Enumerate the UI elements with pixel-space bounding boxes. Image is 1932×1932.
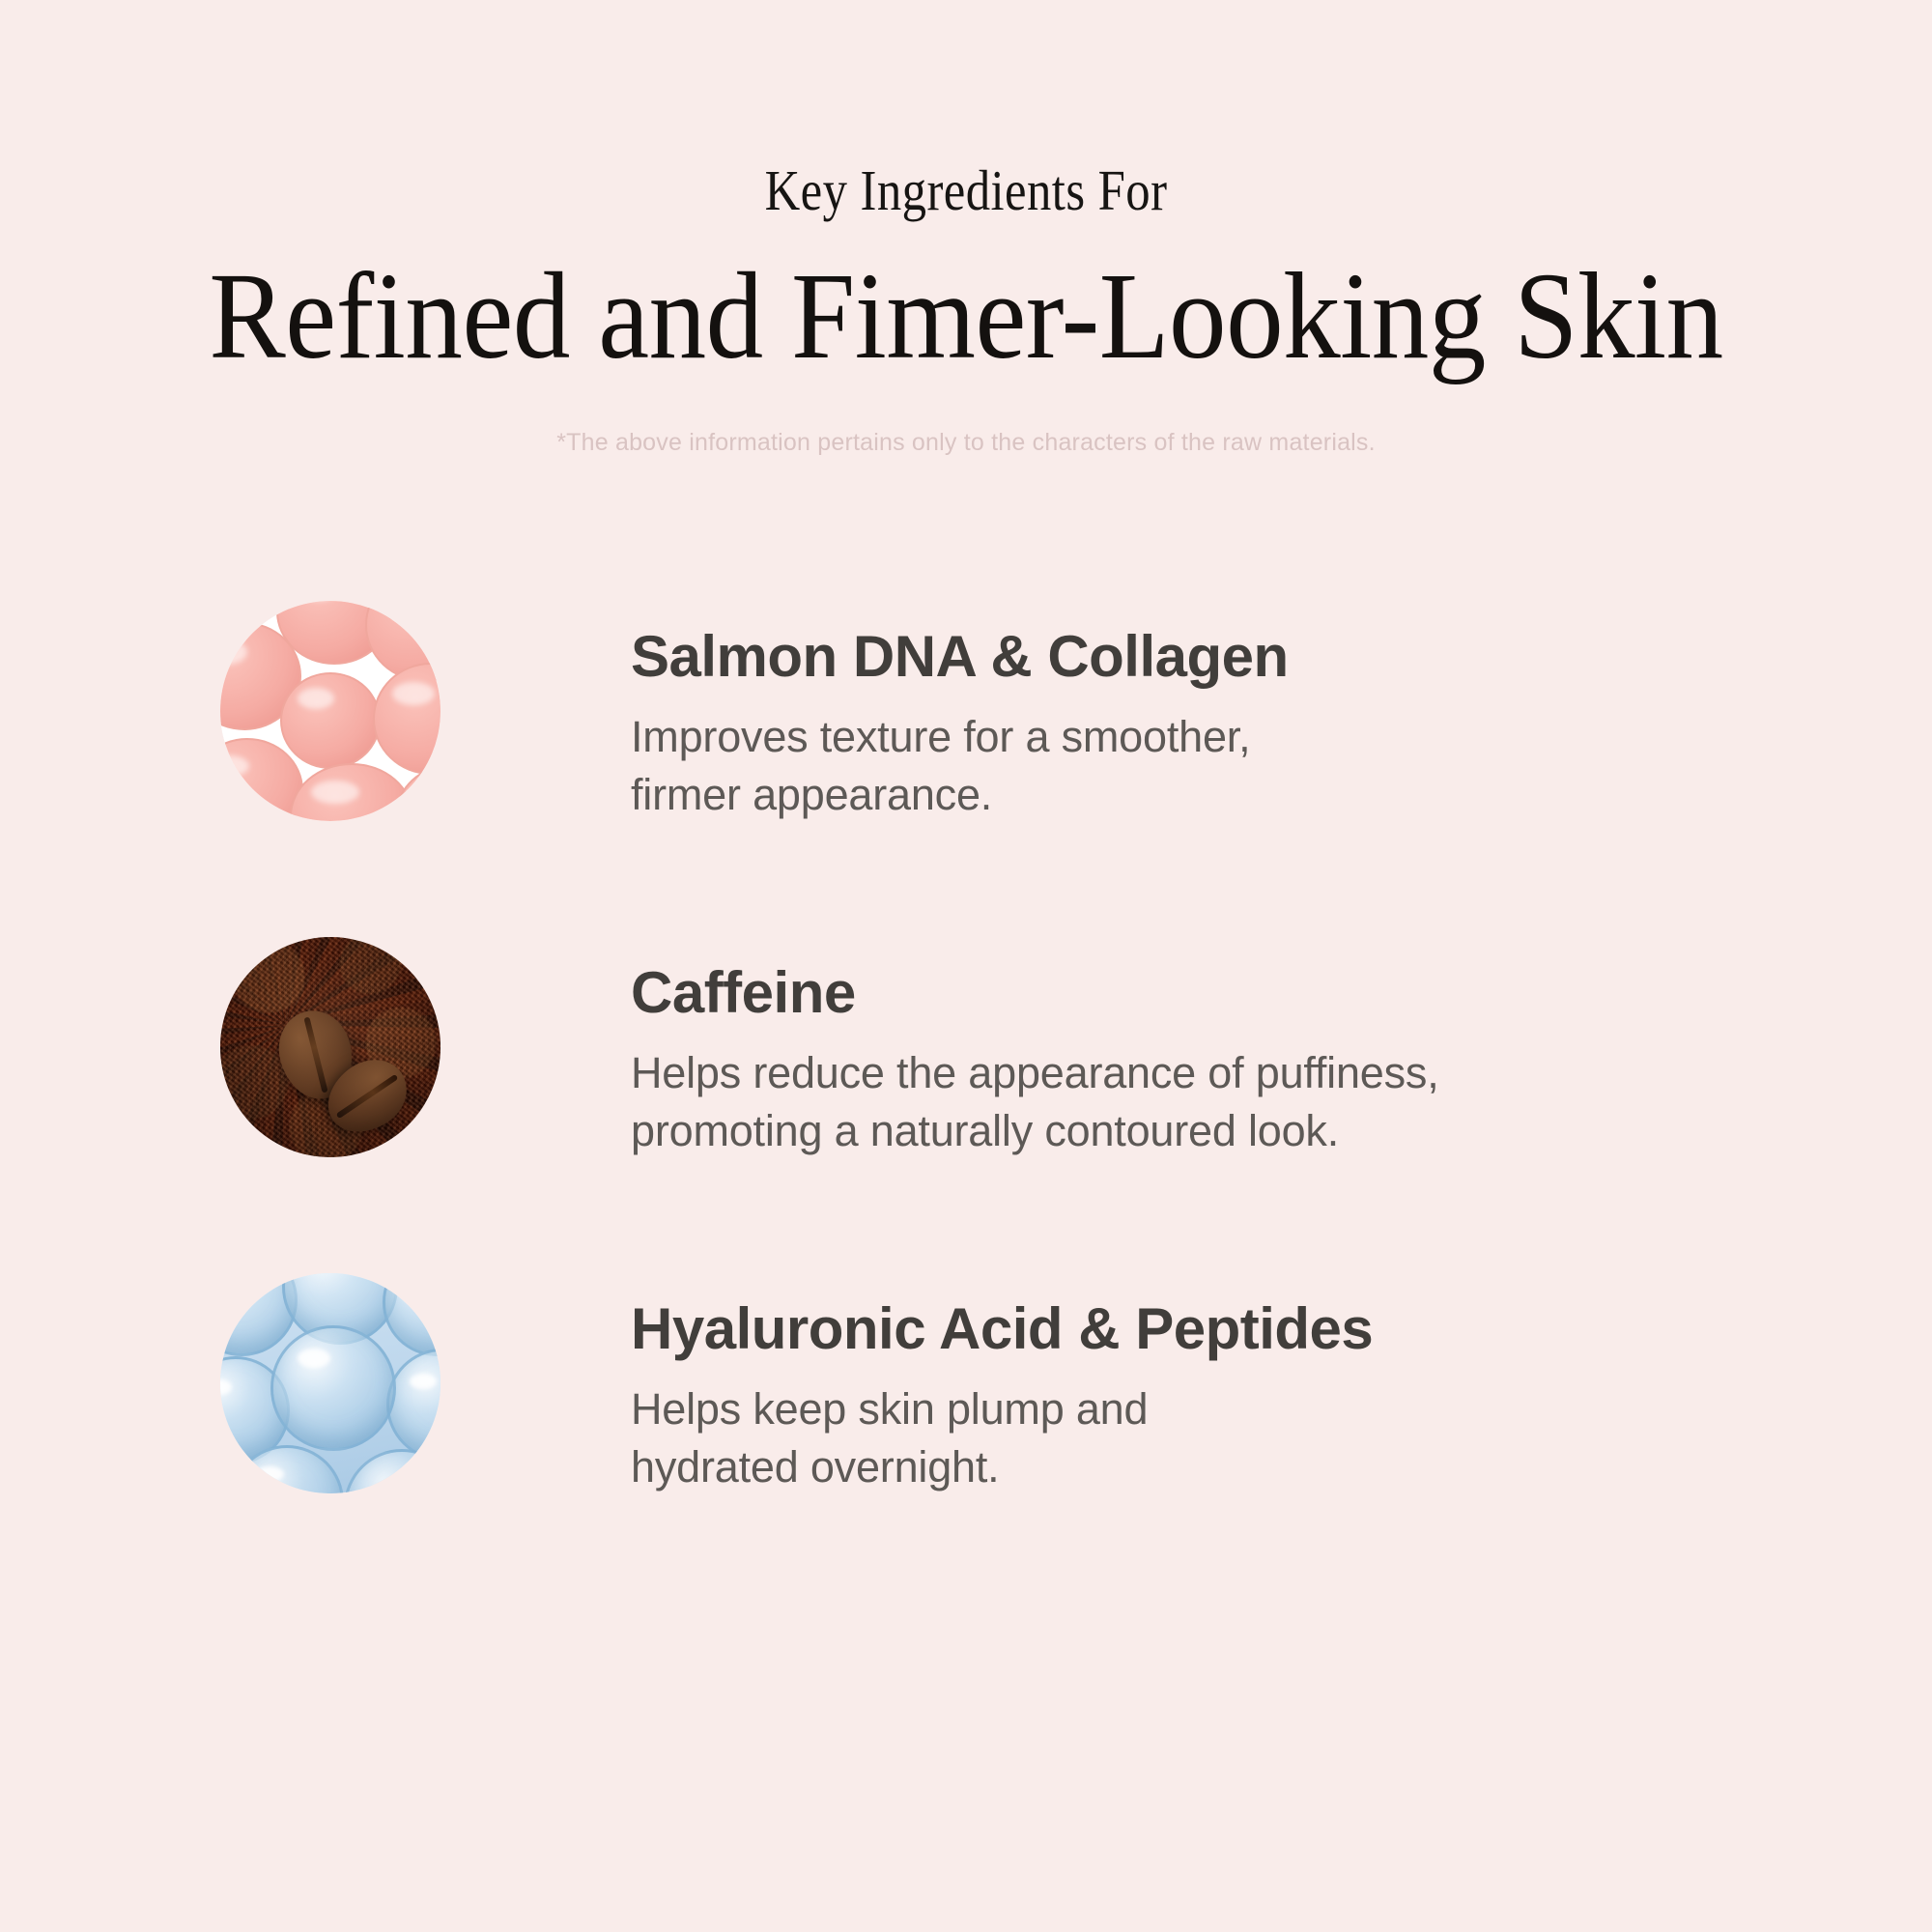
ingredient-copy: Salmon DNA & Collagen Improves texture f… xyxy=(631,626,1848,824)
tablets-artwork xyxy=(220,601,440,821)
ingredient-title: Salmon DNA & Collagen xyxy=(631,626,1848,689)
ingredient-title: Hyaluronic Acid & Peptides xyxy=(631,1298,1848,1361)
list-item: Salmon DNA & Collagen Improves texture f… xyxy=(0,601,1932,937)
ingredient-copy: Hyaluronic Acid & Peptides Helps keep sk… xyxy=(631,1298,1848,1496)
ingredients-poster: Key Ingredients For Refined and Fimer-Lo… xyxy=(0,0,1932,1932)
description-line: Helps keep skin plump and xyxy=(631,1380,1848,1438)
coffee-artwork xyxy=(220,937,440,1157)
ingredient-copy: Caffeine Helps reduce the appearance of … xyxy=(631,962,1848,1160)
description-line: Helps reduce the appearance of puffiness… xyxy=(631,1044,1848,1102)
description-line: hydrated overnight. xyxy=(631,1438,1848,1496)
ingredient-title: Caffeine xyxy=(631,962,1848,1025)
blue-bubbles-image xyxy=(220,1273,440,1493)
ingredient-description: Improves texture for a smoother, firmer … xyxy=(631,708,1848,825)
bubbles-artwork xyxy=(220,1273,440,1493)
coffee-grounds-image xyxy=(220,937,440,1157)
description-line: promoting a naturally contoured look. xyxy=(631,1102,1848,1160)
pink-tablets-image xyxy=(220,601,440,821)
disclaimer-text: *The above information pertains only to … xyxy=(0,428,1932,457)
description-line: Improves texture for a smoother, xyxy=(631,708,1848,766)
ingredient-list: Salmon DNA & Collagen Improves texture f… xyxy=(0,601,1932,1609)
description-line: firmer appearance. xyxy=(631,766,1848,824)
list-item: Caffeine Helps reduce the appearance of … xyxy=(0,937,1932,1273)
list-item: Hyaluronic Acid & Peptides Helps keep sk… xyxy=(0,1273,1932,1609)
ingredient-description: Helps reduce the appearance of puffiness… xyxy=(631,1044,1848,1161)
page-title: Refined and Fimer-Looking Skin xyxy=(68,254,1864,378)
poster-header: Key Ingredients For Refined and Fimer-Lo… xyxy=(0,0,1932,457)
eyebrow-text: Key Ingredients For xyxy=(135,162,1797,219)
ingredient-description: Helps keep skin plump and hydrated overn… xyxy=(631,1380,1848,1497)
